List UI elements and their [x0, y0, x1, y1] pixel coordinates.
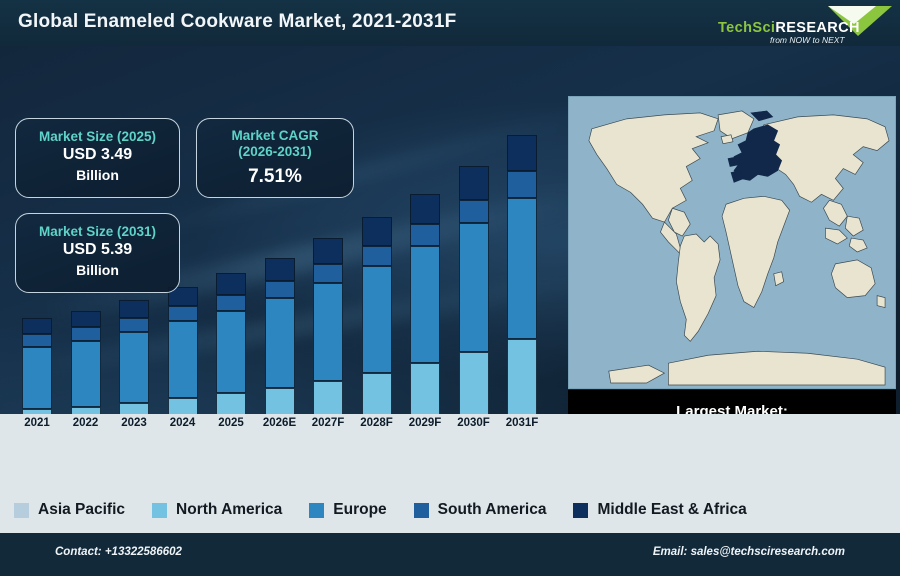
bar-segment-middle-east-africa	[410, 194, 440, 224]
legend-swatch-icon	[14, 503, 29, 518]
world-map-svg	[569, 97, 895, 388]
legend-swatch-icon	[573, 503, 588, 518]
bar-segment-south-america	[22, 334, 52, 347]
x-axis-label-2026E: 2026E	[253, 417, 307, 429]
legend-label: South America	[438, 501, 547, 519]
bar-segment-south-america	[410, 224, 440, 246]
techsci-logo: TechSciRESEARCH from NOW to NEXT	[708, 2, 894, 46]
legend-label: North America	[176, 501, 282, 519]
bar-segment-middle-east-africa	[507, 135, 537, 171]
bar-segment-middle-east-africa	[459, 166, 489, 199]
market-cagr-label-line2: (2026-2031)	[197, 144, 353, 160]
x-axis-label-2028F: 2028F	[350, 417, 404, 429]
bar-segment-south-america	[265, 281, 295, 298]
bar-segment-middle-east-africa	[216, 273, 246, 295]
bar-segment-middle-east-africa	[362, 217, 392, 245]
bar-2031F	[507, 135, 537, 460]
market-cagr-label-line1: Market CAGR	[197, 128, 353, 144]
market-size-2025-unit: Billion	[16, 166, 179, 184]
logo-tech-text: TechSci	[718, 20, 775, 36]
logo-research-text: RESEARCH	[775, 20, 860, 36]
market-size-2031-unit: Billion	[16, 261, 179, 279]
logo-tagline: from NOW to NEXT	[770, 35, 845, 45]
x-axis-labels: 202120222023202420252026E2027F2028F2029F…	[0, 414, 565, 438]
bar-segment-middle-east-africa	[313, 238, 343, 264]
legend-item-middle-east-africa[interactable]: Middle East & Africa	[573, 501, 746, 519]
bar-segment-europe	[313, 283, 343, 381]
market-cagr-box: Market CAGR (2026-2031) 7.51%	[196, 118, 354, 198]
legend-swatch-icon	[414, 503, 429, 518]
legend-item-north-america[interactable]: North America	[152, 501, 282, 519]
bar-segment-south-america	[362, 246, 392, 266]
bar-segment-south-america	[459, 200, 489, 224]
x-axis-label-2024: 2024	[156, 417, 210, 429]
market-size-2031-label: Market Size (2031)	[16, 224, 179, 240]
market-size-2031-value: USD 5.39	[16, 240, 179, 261]
bar-segment-south-america	[216, 295, 246, 311]
footer-email: Email: sales@techsciresearch.com	[653, 546, 845, 558]
x-axis-label-2023: 2023	[107, 417, 161, 429]
market-cagr-value: 7.51%	[197, 165, 353, 190]
market-size-2025-value: USD 3.49	[16, 145, 179, 166]
bar-segment-south-america	[313, 264, 343, 283]
bar-segment-south-america	[119, 318, 149, 332]
bar-segment-europe	[507, 198, 537, 339]
x-axis-label-2030F: 2030F	[447, 417, 501, 429]
bar-segment-middle-east-africa	[22, 318, 52, 334]
bar-segment-middle-east-africa	[119, 300, 149, 318]
legend-item-europe[interactable]: Europe	[309, 501, 386, 519]
header-bar: Global Enameled Cookware Market, 2021-20…	[0, 0, 900, 46]
infographic-root: Global Enameled Cookware Market, 2021-20…	[0, 0, 900, 576]
footer-contact: Contact: +13322586602	[55, 546, 182, 558]
bar-segment-south-america	[71, 327, 101, 340]
bar-segment-europe	[22, 347, 52, 410]
legend-label: Europe	[333, 501, 386, 519]
market-size-2025-box: Market Size (2025) USD 3.49 Billion	[15, 118, 180, 198]
legend-item-south-america[interactable]: South America	[414, 501, 547, 519]
bar-segment-europe	[168, 321, 198, 397]
bar-segment-south-america	[168, 306, 198, 321]
world-map	[568, 96, 896, 389]
bar-segment-europe	[119, 332, 149, 402]
bar-segment-north-america	[507, 339, 537, 424]
x-axis-label-2022: 2022	[59, 417, 113, 429]
legend-swatch-icon	[152, 503, 167, 518]
logo-wordmark: TechSciRESEARCH	[718, 20, 860, 36]
bar-segment-middle-east-africa	[71, 311, 101, 328]
market-size-2025-label: Market Size (2025)	[16, 129, 179, 145]
bar-segment-europe	[410, 246, 440, 363]
bar-segment-south-america	[507, 171, 537, 197]
market-size-2031-box: Market Size (2031) USD 5.39 Billion	[15, 213, 180, 293]
x-axis-label-2025: 2025	[204, 417, 258, 429]
x-axis-label-2031F: 2031F	[495, 417, 549, 429]
legend-item-asia-pacific[interactable]: Asia Pacific	[14, 501, 125, 519]
bar-segment-europe	[362, 266, 392, 373]
bar-segment-europe	[71, 341, 101, 407]
bar-segment-middle-east-africa	[265, 258, 295, 281]
bar-segment-europe	[265, 298, 295, 388]
legend-label: Asia Pacific	[38, 501, 125, 519]
x-axis-label-2021: 2021	[10, 417, 64, 429]
chart-legend: Asia PacificNorth AmericaEuropeSouth Ame…	[0, 487, 900, 533]
bar-segment-europe	[216, 311, 246, 393]
legend-swatch-icon	[309, 503, 324, 518]
x-axis-label-2027F: 2027F	[301, 417, 355, 429]
bar-segment-europe	[459, 223, 489, 351]
legend-label: Middle East & Africa	[597, 501, 746, 519]
footer-bar: Contact: +13322586602 Email: sales@techs…	[0, 533, 900, 576]
page-title: Global Enameled Cookware Market, 2021-20…	[18, 11, 456, 33]
x-axis-label-2029F: 2029F	[398, 417, 452, 429]
